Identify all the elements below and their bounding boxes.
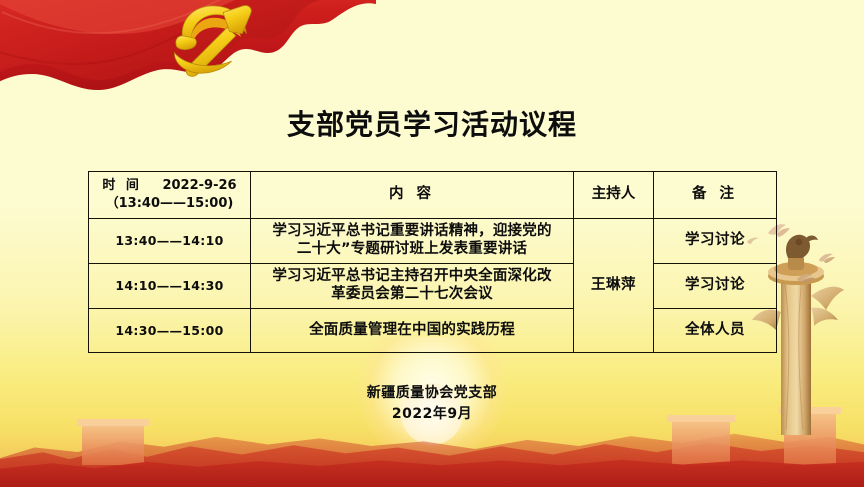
cell-content: 全面质量管理在中国的实践历程 — [251, 309, 574, 353]
cell-content-line: 二十大”专题研讨班上发表重要讲话 — [256, 241, 568, 259]
watchtower-icon — [82, 425, 144, 465]
cell-content-line: 全面质量管理在中国的实践历程 — [256, 322, 568, 340]
cell-time: 13:40——14:10 — [89, 219, 251, 264]
table-row: 14:30——15:00 全面质量管理在中国的实践历程 全体人员 — [89, 309, 777, 353]
great-wall-foreground-icon — [0, 453, 864, 487]
footer-organization: 新疆质量协会党支部 — [0, 383, 864, 404]
header-cell-time: 时 间 2022-9-26 （13:40——15:00) — [89, 172, 251, 219]
table-row: 14:10——14:30 学习习近平总书记主持召开中央全面深化改 革委员会第二十… — [89, 264, 777, 309]
cell-host: 王琳萍 — [574, 219, 654, 353]
dove-icon — [796, 272, 816, 284]
header-time-label: 时 间 — [102, 178, 142, 193]
cell-time: 14:10——14:30 — [89, 264, 251, 309]
great-wall-ridge-icon — [0, 429, 864, 487]
header-cell-host: 主持人 — [574, 172, 654, 219]
cell-remark: 全体人员 — [654, 309, 777, 353]
cell-content: 学习习近平总书记重要讲话精神，迎接党的 二十大”专题研讨班上发表重要讲话 — [251, 219, 574, 264]
table-row: 13:40——14:10 学习习近平总书记重要讲话精神，迎接党的 二十大”专题研… — [89, 219, 777, 264]
page-title: 支部党员学习活动议程 — [0, 110, 864, 141]
dove-icon — [818, 252, 836, 264]
table-header-row: 时 间 2022-9-26 （13:40——15:00) 内 容 主持人 备 注 — [89, 172, 777, 219]
footer-date: 2022年9月 — [0, 404, 864, 425]
agenda-table: 时 间 2022-9-26 （13:40——15:00) 内 容 主持人 备 注… — [88, 171, 777, 353]
header-time-range: （13:40——15:00) — [94, 195, 245, 213]
slide-canvas: 支部党员学习活动议程 时 间 2022-9-26 （13:40——15:00) … — [0, 0, 864, 487]
watchtower-icon — [672, 421, 730, 465]
cell-time: 14:30——15:00 — [89, 309, 251, 353]
header-cell-remark: 备 注 — [654, 172, 777, 219]
cell-remark: 学习讨论 — [654, 264, 777, 309]
header-cell-content: 内 容 — [251, 172, 574, 219]
cell-content-line: 学习习近平总书记主持召开中央全面深化改 — [256, 268, 568, 286]
footer-block: 新疆质量协会党支部 2022年9月 — [0, 383, 864, 425]
party-flag-icon — [0, 0, 376, 110]
header-time-date: 2022-9-26 — [162, 178, 236, 193]
cell-content-line: 学习习近平总书记重要讲话精神，迎接党的 — [256, 223, 568, 241]
cell-content: 学习习近平总书记主持召开中央全面深化改 革委员会第二十七次会议 — [251, 264, 574, 309]
cell-remark: 学习讨论 — [654, 219, 777, 264]
cell-content-line: 革委员会第二十七次会议 — [256, 286, 568, 304]
